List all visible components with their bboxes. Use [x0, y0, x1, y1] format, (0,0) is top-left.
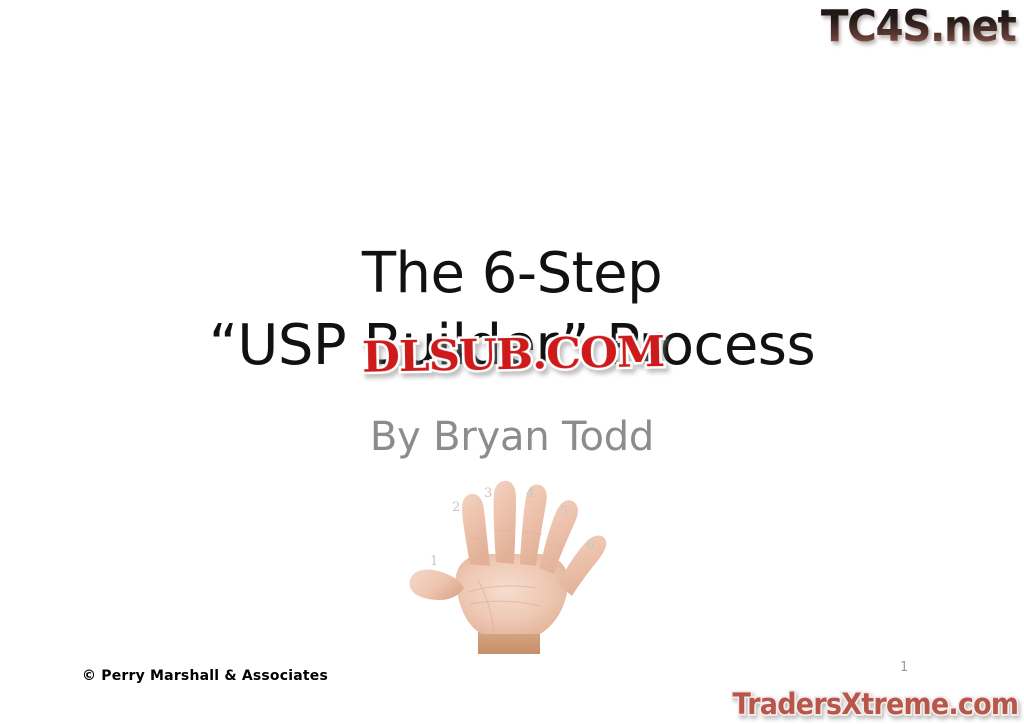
- slide-number: 1: [900, 660, 908, 675]
- dlsub-watermark-text: DLSUB.COM: [362, 327, 665, 383]
- finger-label-3: 3: [484, 486, 492, 501]
- dlsub-watermark: DLSUB.COM: [362, 327, 653, 383]
- copyright-notice: © Perry Marshall & Associates: [82, 668, 328, 684]
- slide-byline: By Bryan Todd: [0, 410, 1024, 464]
- finger-label-4: 4: [526, 486, 534, 501]
- tc4s-watermark: TC4S.net: [821, 2, 1016, 52]
- finger-label-5: 5: [560, 504, 568, 519]
- finger-label-6: 6: [586, 538, 594, 553]
- presentation-slide: The 6-Step “USP Builder” Process By Brya…: [0, 0, 1024, 724]
- tradersxtreme-watermark: TradersXtreme.com: [732, 686, 1018, 722]
- six-finger-hand-image: 1 2 3 4 5 6: [408, 468, 620, 654]
- slide-title-line-1: The 6-Step: [0, 238, 1024, 310]
- finger-label-2: 2: [452, 500, 460, 515]
- finger-label-1: 1: [430, 554, 438, 569]
